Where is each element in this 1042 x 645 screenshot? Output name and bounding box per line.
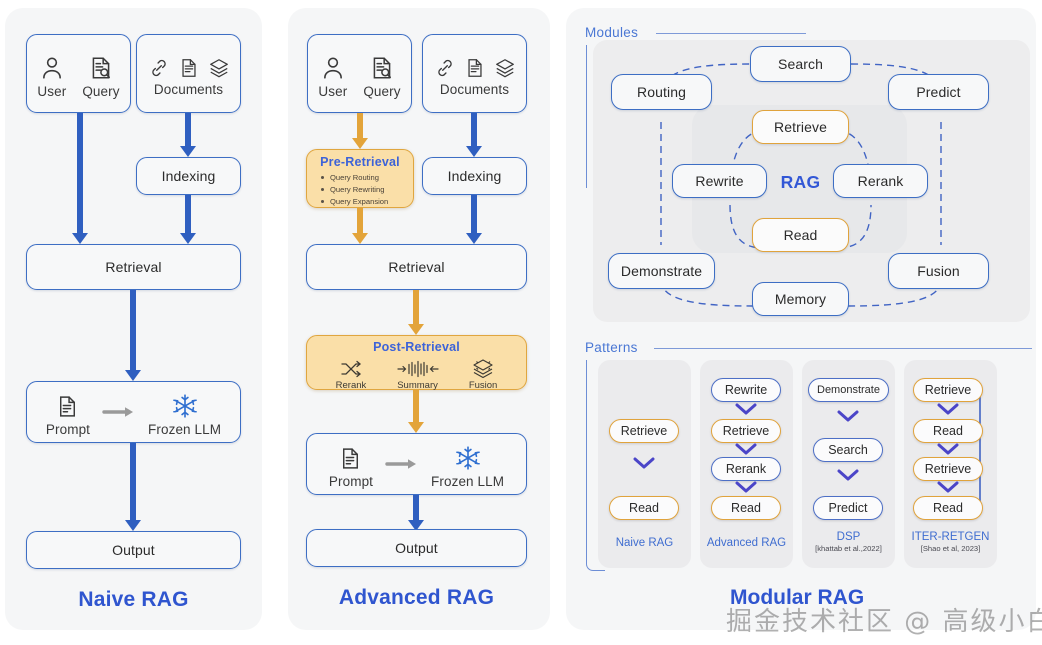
user-icon: [39, 55, 65, 81]
prompt-document-icon: [338, 446, 363, 471]
node-user-query-advanced[interactable]: User Query: [307, 34, 412, 113]
pre-retrieval-item: Query Rewriting: [321, 184, 413, 196]
node-retrieval-advanced[interactable]: Retrieval: [306, 244, 527, 290]
layers-icon: [208, 57, 230, 79]
user-icon: [320, 55, 346, 81]
icon-cell-frozen-llm: Frozen LLM: [148, 393, 221, 437]
prompt-label: Prompt: [46, 422, 90, 437]
modules-header-line: [656, 33, 806, 34]
pre-retrieval-title: Pre-Retrieval: [307, 155, 413, 169]
link-icon: [148, 57, 170, 79]
arrow-indexing-to-retrieval-advanced: [467, 195, 481, 244]
chevron-down-icon: [836, 467, 860, 483]
documents-label: Documents: [154, 82, 223, 97]
pattern-name: Naive RAG: [598, 537, 691, 549]
summary-icon: [396, 359, 440, 379]
node-indexing-advanced[interactable]: Indexing: [422, 157, 527, 195]
retrieval-label: Retrieval: [388, 259, 444, 275]
pattern-step[interactable]: Retrieve: [711, 419, 781, 443]
post-cell-rerank: Rerank: [336, 359, 367, 391]
query-document-icon: [369, 55, 395, 81]
icon-cell-user: User: [318, 55, 347, 99]
caption-advanced-rag: Advanced RAG: [306, 586, 527, 610]
post-retrieval-title: Post-Retrieval: [307, 340, 526, 354]
module-node-retrieve[interactable]: Retrieve: [752, 110, 849, 144]
query-label: Query: [82, 84, 119, 99]
pattern-step[interactable]: Read: [913, 419, 983, 443]
pattern-name: DSP: [802, 531, 895, 543]
module-label: Fusion: [917, 263, 960, 279]
arrow-right-icon: [385, 458, 419, 470]
node-user-query-naive[interactable]: User Query: [26, 34, 131, 113]
arrow-preretrieval-to-retrieval: [353, 208, 367, 244]
box-pre-retrieval[interactable]: Pre-Retrieval Query Routing Query Rewrit…: [306, 149, 414, 208]
watermark: 掘金技术社区 @ 高级小白: [726, 601, 1042, 638]
pre-retrieval-item: Query Expansion: [321, 196, 413, 208]
link-icon: [434, 57, 456, 79]
arrow-postretrieval-to-prompt: [409, 390, 423, 433]
section-label-patterns: Patterns: [585, 340, 638, 355]
node-retrieval-naive[interactable]: Retrieval: [26, 244, 241, 290]
module-label: Memory: [775, 291, 826, 307]
pattern-step-label: Search: [828, 443, 868, 457]
post-retrieval-item: Rerank: [336, 380, 367, 391]
patterns-header-line: [654, 348, 1032, 349]
chevron-down-icon: [734, 401, 758, 417]
pattern-step[interactable]: Read: [913, 496, 983, 520]
module-label: Rerank: [858, 173, 904, 189]
rag-core-label: RAG: [778, 172, 823, 193]
document-icon: [464, 57, 486, 79]
pattern-step[interactable]: Read: [609, 496, 679, 520]
chevron-down-icon: [936, 479, 960, 495]
box-post-retrieval[interactable]: Post-Retrieval Rerank Summary Fusion: [306, 335, 527, 390]
arrow-indexing-to-retrieval-naive: [181, 195, 195, 244]
fusion-icon: [470, 357, 496, 379]
query-label: Query: [363, 84, 400, 99]
module-label: Routing: [637, 84, 686, 100]
post-retrieval-items: Rerank Summary Fusion: [307, 357, 526, 391]
pattern-step-label: Rewrite: [725, 383, 767, 397]
node-documents-advanced[interactable]: Documents: [422, 34, 527, 113]
arrow-prompt-to-output-naive: [126, 443, 140, 531]
pattern-citation: [Shao et al, 2023]: [904, 544, 997, 553]
snowflake-icon: [455, 445, 481, 471]
pattern-step-label: Retrieve: [925, 383, 972, 397]
pattern-step-label: Retrieve: [621, 424, 668, 438]
arrow-query-to-preretrieval: [353, 113, 367, 149]
snowflake-icon: [172, 393, 198, 419]
chevron-down-icon: [936, 401, 960, 417]
pattern-step[interactable]: Search: [813, 438, 883, 462]
pattern-step-label: Read: [933, 501, 963, 515]
chevron-down-icon: [936, 441, 960, 457]
module-label: Read: [784, 227, 818, 243]
pattern-name: ITER-RETGEN: [904, 531, 997, 543]
module-label: Demonstrate: [621, 263, 702, 279]
chevron-down-icon: [632, 455, 656, 471]
prompt-label: Prompt: [329, 474, 373, 489]
module-node-read[interactable]: Read: [752, 218, 849, 252]
module-label: Search: [778, 56, 823, 72]
arrow-documents-to-indexing-naive: [181, 113, 195, 157]
arrow-documents-to-indexing-advanced: [467, 113, 481, 157]
indexing-label: Indexing: [448, 168, 502, 184]
icon-cell-query: Query: [363, 55, 400, 99]
pattern-step[interactable]: Rerank: [711, 457, 781, 481]
indexing-label: Indexing: [162, 168, 216, 184]
output-label: Output: [395, 540, 438, 556]
pattern-name: Advanced RAG: [700, 537, 793, 549]
pattern-step[interactable]: Demonstrate: [808, 378, 889, 402]
module-label: Retrieve: [774, 119, 827, 135]
node-output-naive[interactable]: Output: [26, 531, 241, 569]
output-label: Output: [112, 542, 155, 558]
module-node-fusion[interactable]: Fusion: [888, 253, 989, 289]
post-cell-summary: Summary: [396, 359, 440, 391]
pattern-step[interactable]: Retrieve: [609, 419, 679, 443]
module-node-memory[interactable]: Memory: [752, 282, 849, 316]
query-document-icon: [88, 55, 114, 81]
icon-cell-frozen-llm: Frozen LLM: [431, 445, 504, 489]
retrieval-label: Retrieval: [105, 259, 161, 275]
section-label-modules: Modules: [585, 25, 638, 40]
chevron-down-icon: [734, 441, 758, 457]
pattern-step-label: Rerank: [726, 462, 766, 476]
prompt-document-icon: [55, 394, 80, 419]
node-prompt-frozenllm-advanced[interactable]: Prompt Frozen LLM: [306, 433, 527, 495]
frozen-llm-label: Frozen LLM: [148, 422, 221, 437]
pattern-step-label: Read: [933, 424, 963, 438]
user-label: User: [318, 84, 347, 99]
arrow-query-to-retrieval-naive: [73, 113, 87, 244]
node-output-advanced[interactable]: Output: [306, 529, 527, 567]
pattern-step[interactable]: Predict: [813, 496, 883, 520]
arrow-retrieval-to-postretrieval: [409, 290, 423, 335]
user-label: User: [37, 84, 66, 99]
document-icon: [178, 57, 200, 79]
icon-cell-query: Query: [82, 55, 119, 99]
pattern-step[interactable]: Read: [711, 496, 781, 520]
arrow-prompt-to-output-advanced: [409, 495, 423, 531]
icon-cell-prompt: Prompt: [329, 446, 373, 489]
node-indexing-naive[interactable]: Indexing: [136, 157, 241, 195]
module-label: Predict: [916, 84, 960, 100]
pre-retrieval-list: Query Routing Query Rewriting Query Expa…: [321, 172, 413, 207]
pattern-step-label: Predict: [829, 501, 868, 515]
chevron-down-icon: [734, 479, 758, 495]
node-documents-naive[interactable]: Documents: [136, 34, 241, 113]
module-node-search[interactable]: Search: [750, 46, 851, 82]
module-label: Rewrite: [695, 173, 743, 189]
modules-bracket: [586, 45, 587, 188]
pattern-step-label: Demonstrate: [817, 384, 880, 396]
pattern-step[interactable]: Rewrite: [711, 378, 781, 402]
caption-naive-rag: Naive RAG: [26, 588, 241, 612]
pattern-step[interactable]: Retrieve: [913, 457, 983, 481]
pattern-citation: [khattab et al.,2022]: [802, 544, 895, 553]
pre-retrieval-item: Query Routing: [321, 172, 413, 184]
module-node-rerank[interactable]: Rerank: [833, 164, 928, 198]
node-prompt-frozenllm-naive[interactable]: Prompt Frozen LLM: [26, 381, 241, 443]
frozen-llm-label: Frozen LLM: [431, 474, 504, 489]
layers-icon: [494, 57, 516, 79]
icon-cell-user: User: [37, 55, 66, 99]
chevron-down-icon: [836, 408, 860, 424]
pattern-step-label: Retrieve: [925, 462, 972, 476]
post-cell-fusion: Fusion: [469, 357, 498, 391]
arrow-right-icon: [102, 406, 136, 418]
module-node-demonstrate[interactable]: Demonstrate: [608, 253, 715, 289]
icon-cell-prompt: Prompt: [46, 394, 90, 437]
pattern-step-label: Read: [731, 501, 761, 515]
arrow-retrieval-to-prompt-naive: [126, 290, 140, 381]
pattern-step-label: Retrieve: [723, 424, 770, 438]
post-retrieval-item: Fusion: [469, 380, 498, 391]
module-node-predict[interactable]: Predict: [888, 74, 989, 110]
pattern-step-label: Read: [629, 501, 659, 515]
rerank-icon: [339, 359, 363, 379]
module-node-routing[interactable]: Routing: [611, 74, 712, 110]
documents-label: Documents: [440, 82, 509, 97]
module-node-rewrite[interactable]: Rewrite: [672, 164, 767, 198]
pattern-step[interactable]: Retrieve: [913, 378, 983, 402]
